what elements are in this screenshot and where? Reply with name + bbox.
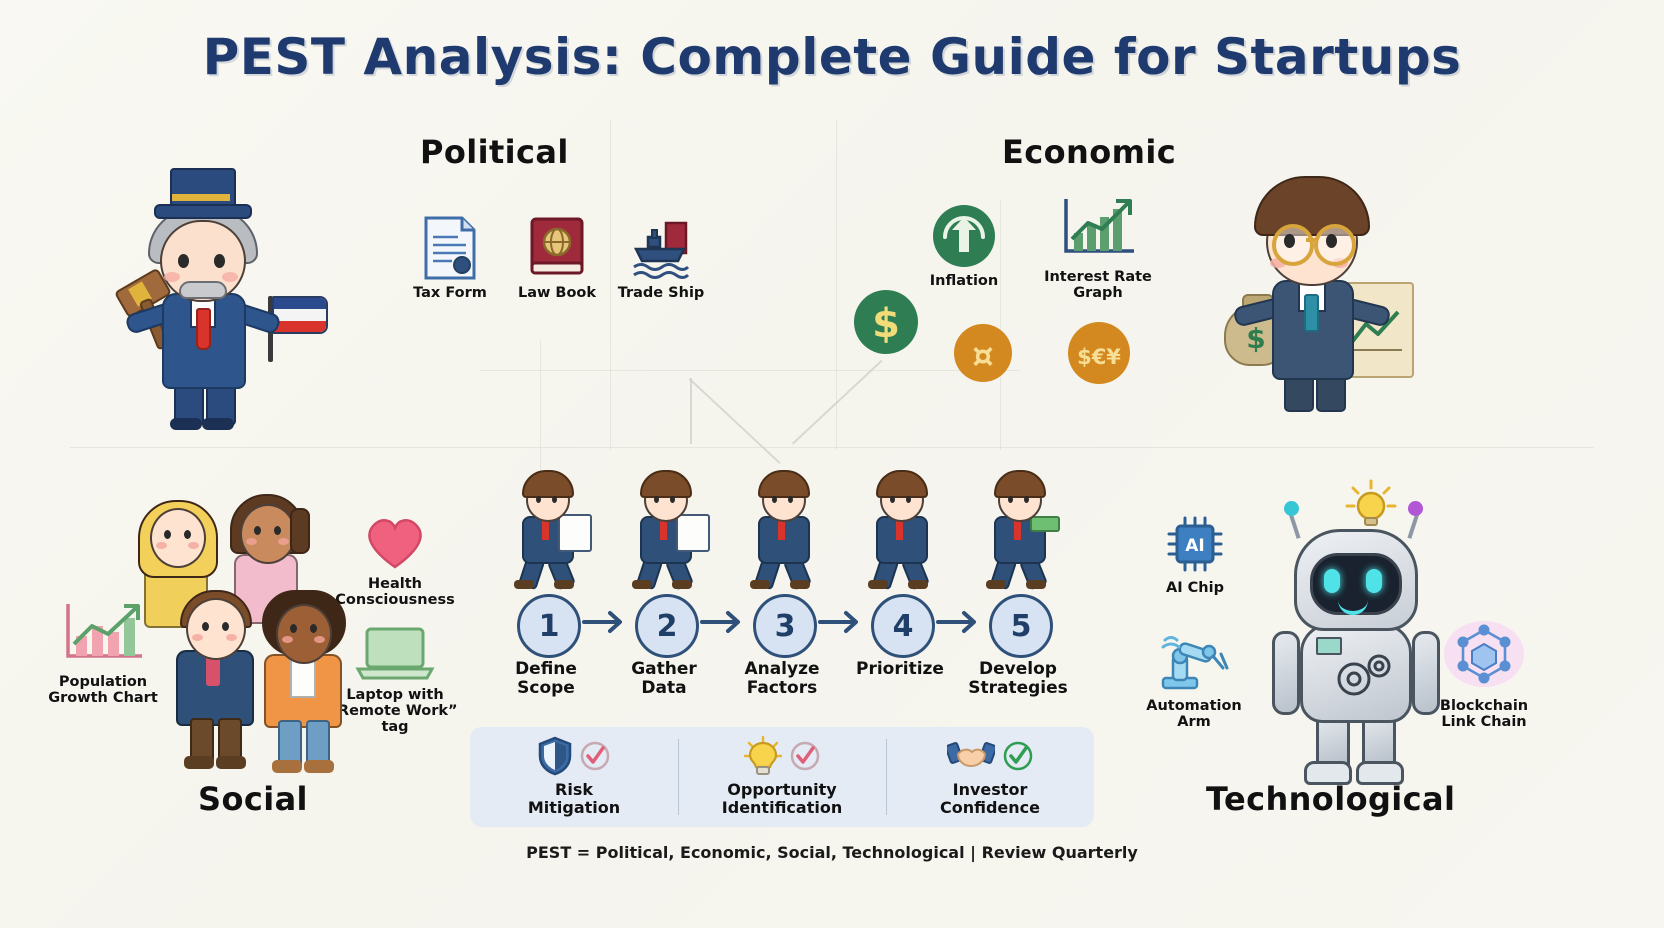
trade-ship-icon	[628, 215, 694, 281]
quadrant-heading-economic: Economic	[1002, 133, 1176, 171]
footer-note: PEST = Political, Economic, Social, Tech…	[0, 843, 1664, 862]
benefit-label: Risk Mitigation	[470, 781, 678, 816]
runner-figure	[972, 470, 1064, 588]
runner-figure	[618, 470, 710, 588]
economic-item-inflation: Inflation	[912, 203, 1016, 289]
political-item-label: Trade Ship	[608, 285, 714, 301]
infographic-canvas: PEST Analysis: Complete Guide for Startu…	[0, 0, 1664, 928]
step-label-3: Analyze Factors	[722, 660, 842, 698]
tax-form-icon	[422, 215, 478, 281]
handshake-icon	[947, 738, 995, 774]
political-item-law-book: Law Book	[505, 215, 609, 301]
economic-item-label: Inflation	[912, 273, 1016, 289]
benefit-label: Investor Confidence	[886, 781, 1094, 816]
step-circle-5[interactable]: 5	[989, 594, 1053, 658]
runner-figure	[500, 470, 592, 588]
step-circle-1[interactable]: 1	[517, 594, 581, 658]
quadrant-heading-political: Political	[420, 133, 569, 171]
economic-coin-dollar: $	[852, 288, 920, 361]
law-book-icon	[526, 215, 588, 281]
benefit-label: Opportunity Identification	[678, 781, 886, 816]
benefit-opportunity-identification[interactable]: Opportunity Identification	[678, 727, 886, 827]
economic-item-label: Interest Rate Graph	[1042, 269, 1154, 301]
quadrant-heading-social: Social	[198, 780, 308, 818]
svg-text:¤: ¤	[972, 336, 994, 376]
tech-item-ai-chip: AI AI Chip	[1140, 512, 1250, 596]
flow-arrow	[818, 604, 866, 645]
quadrant-heading-technological: Technological	[1206, 780, 1455, 818]
tech-item-automation-arm: Automation Arm	[1130, 630, 1258, 730]
shield-icon	[538, 736, 572, 776]
currency-coin-icon: ¤	[952, 322, 1014, 384]
page-title: PEST Analysis: Complete Guide for Startu…	[0, 28, 1664, 86]
political-item-label: Tax Form	[398, 285, 502, 301]
flow-arrow	[700, 604, 748, 645]
runner-figure	[854, 470, 946, 588]
step-label-2: Gather Data	[604, 660, 724, 698]
check-circle-pink-icon	[790, 741, 820, 771]
politician-mascot	[118, 168, 338, 438]
step-label-5: Develop Strategies	[958, 660, 1078, 698]
economist-mascot: $	[1228, 172, 1448, 422]
runner-figure	[736, 470, 828, 588]
economic-item-interest-rate-graph: Interest Rate Graph	[1042, 195, 1154, 301]
flow-arrow	[936, 604, 984, 645]
check-circle-pink-icon	[580, 741, 610, 771]
svg-text:$: $	[872, 301, 900, 347]
benefit-investor-confidence[interactable]: Investor Confidence	[886, 727, 1094, 827]
economic-coin-multi-currency: $€¥	[1066, 320, 1132, 391]
political-item-trade-ship: Trade Ship	[608, 215, 714, 301]
robot-mascot	[1260, 495, 1460, 785]
svg-text:$€¥: $€¥	[1077, 345, 1121, 369]
step-circle-2[interactable]: 2	[635, 594, 699, 658]
step-label-1: Define Scope	[486, 660, 606, 698]
flag-icon	[272, 296, 328, 334]
automation-arm-icon	[1155, 630, 1233, 694]
process-flow: 1 2 3 4 5 Define Scope Gather Data Analy…	[490, 470, 1090, 720]
economic-coin-currency: ¤	[952, 322, 1014, 389]
multi-currency-coin-icon: $€¥	[1066, 320, 1132, 386]
step-circle-3[interactable]: 3	[753, 594, 817, 658]
svg-text:AI: AI	[1185, 536, 1204, 556]
dollar-coin-icon: $	[852, 288, 920, 356]
social-group-mascot	[130, 500, 390, 780]
step-circle-4[interactable]: 4	[871, 594, 935, 658]
step-label-4: Prioritize	[840, 660, 960, 679]
gear-icon	[1332, 651, 1394, 703]
check-circle-green-icon	[1003, 741, 1033, 771]
interest-rate-graph-icon	[1058, 195, 1138, 265]
tech-item-label: Automation Arm	[1130, 698, 1258, 730]
political-item-tax-form: Tax Form	[398, 215, 502, 301]
inflation-arrow-icon	[931, 203, 997, 269]
political-item-label: Law Book	[505, 285, 609, 301]
benefit-risk-mitigation[interactable]: Risk Mitigation	[470, 727, 678, 827]
benefits-bar: Risk Mitigation Opportunity Identificati…	[470, 727, 1094, 827]
tech-item-label: AI Chip	[1140, 580, 1250, 596]
flow-arrow	[582, 604, 630, 645]
lightbulb-icon	[744, 736, 782, 776]
ai-chip-icon: AI	[1163, 512, 1227, 576]
